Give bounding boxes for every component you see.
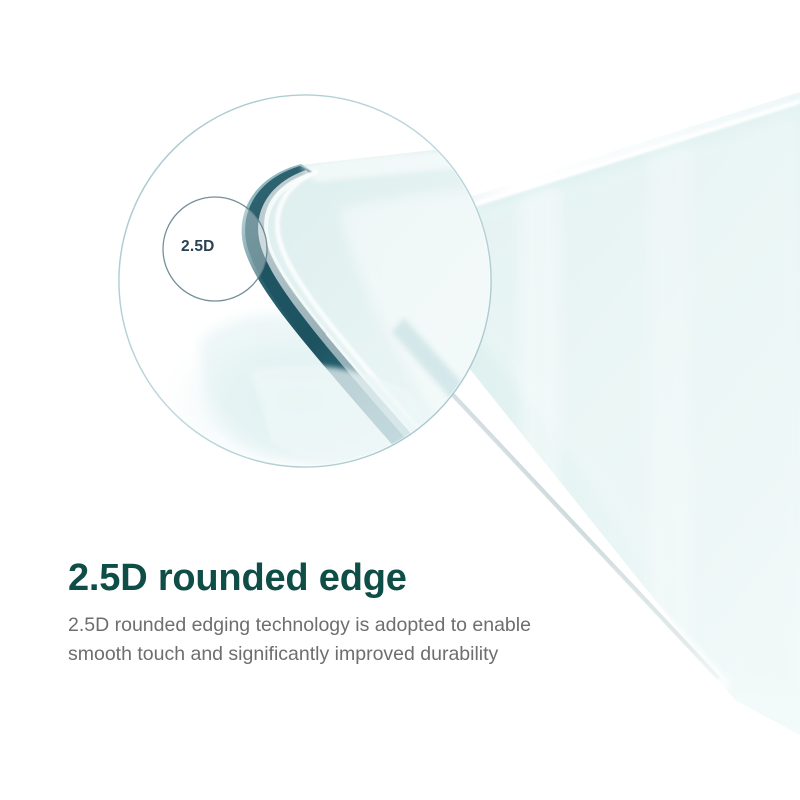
page-title: 2.5D rounded edge [68, 556, 628, 600]
caption-body-line-1: 2.5D rounded edging technology is adopte… [68, 611, 588, 640]
caption-block: 2.5D rounded edge 2.5D rounded edging te… [68, 556, 628, 669]
product-image-canvas: 2.5D 2.5D rounded edge 2.5D rounded edgi… [0, 0, 800, 800]
magnifier-label: 2.5D [181, 238, 215, 256]
caption-body: 2.5D rounded edging technology is adopte… [68, 611, 588, 669]
callout-circle [163, 197, 267, 301]
caption-body-line-2: smooth touch and significantly improved … [68, 640, 588, 669]
glass-illustration [0, 0, 800, 800]
